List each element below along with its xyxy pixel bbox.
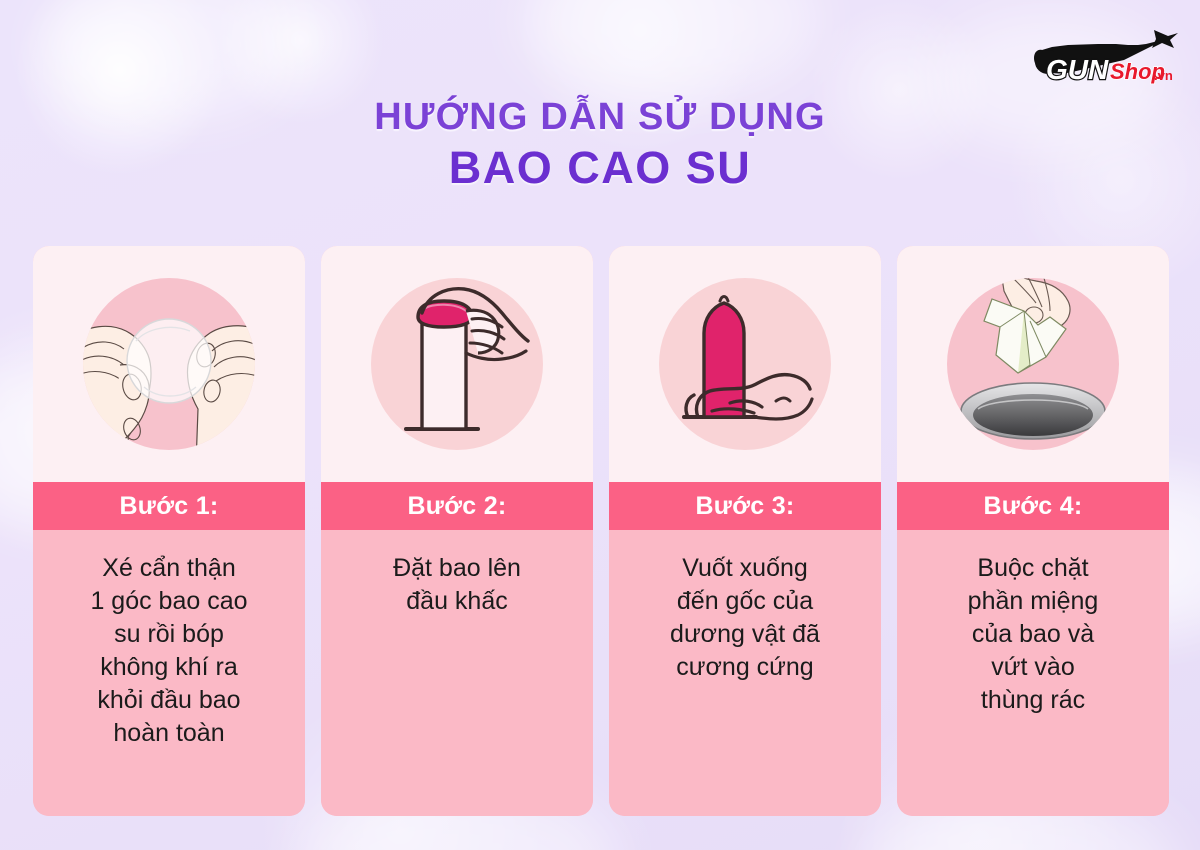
step-1-text: Xé cẩn thận 1 góc bao cao su rồi bóp khô… [33,530,305,816]
step-card-2[interactable]: Bước 2: Đặt bao lên đầu khấc [321,246,593,816]
step-4-band: Bước 4: [897,482,1169,530]
step-2-band: Bước 2: [321,482,593,530]
logo-gun-text: GUN [1046,54,1109,85]
step-3-illustration [609,246,881,482]
title-line-1: HƯỚNG DẪN SỬ DỤNG [0,98,1200,138]
step-4-label: Bước 4: [983,492,1082,521]
step-3-band: Bước 3: [609,482,881,530]
logo-tld-text: .vn [1154,68,1173,83]
background-blob [520,0,820,100]
step-3-text: Vuốt xuống đến gốc của dương vật đã cươn… [609,530,881,816]
step-4-illustration [897,246,1169,482]
step-4-text: Buộc chặt phần miệng của bao và vứt vào … [897,530,1169,816]
step-card-3[interactable]: Bước 3: Vuốt xuống đến gốc của dương vật… [609,246,881,816]
page-title: HƯỚNG DẪN SỬ DỤNG BAO CAO SU [0,98,1200,194]
step-1-band: Bước 1: [33,482,305,530]
step-2-label: Bước 2: [407,492,506,521]
step-1-illustration [33,246,305,482]
step-card-4[interactable]: Bước 4: Buộc chặt phần miệng của bao và … [897,246,1169,816]
gunshop-logo[interactable]: GUN Shop .vn [1028,22,1178,94]
step-2-illustration [321,246,593,482]
svg-text:GUN: GUN [1046,54,1109,85]
step-1-label: Bước 1: [119,492,218,521]
step-2-text: Đặt bao lên đầu khấc [321,530,593,816]
step-3-label: Bước 3: [695,492,794,521]
title-line-2: BAO CAO SU [0,142,1200,194]
steps-container: Bước 1: Xé cẩn thận 1 góc bao cao su rồi… [33,246,1169,816]
step-card-1[interactable]: Bước 1: Xé cẩn thận 1 góc bao cao su rồi… [33,246,305,816]
